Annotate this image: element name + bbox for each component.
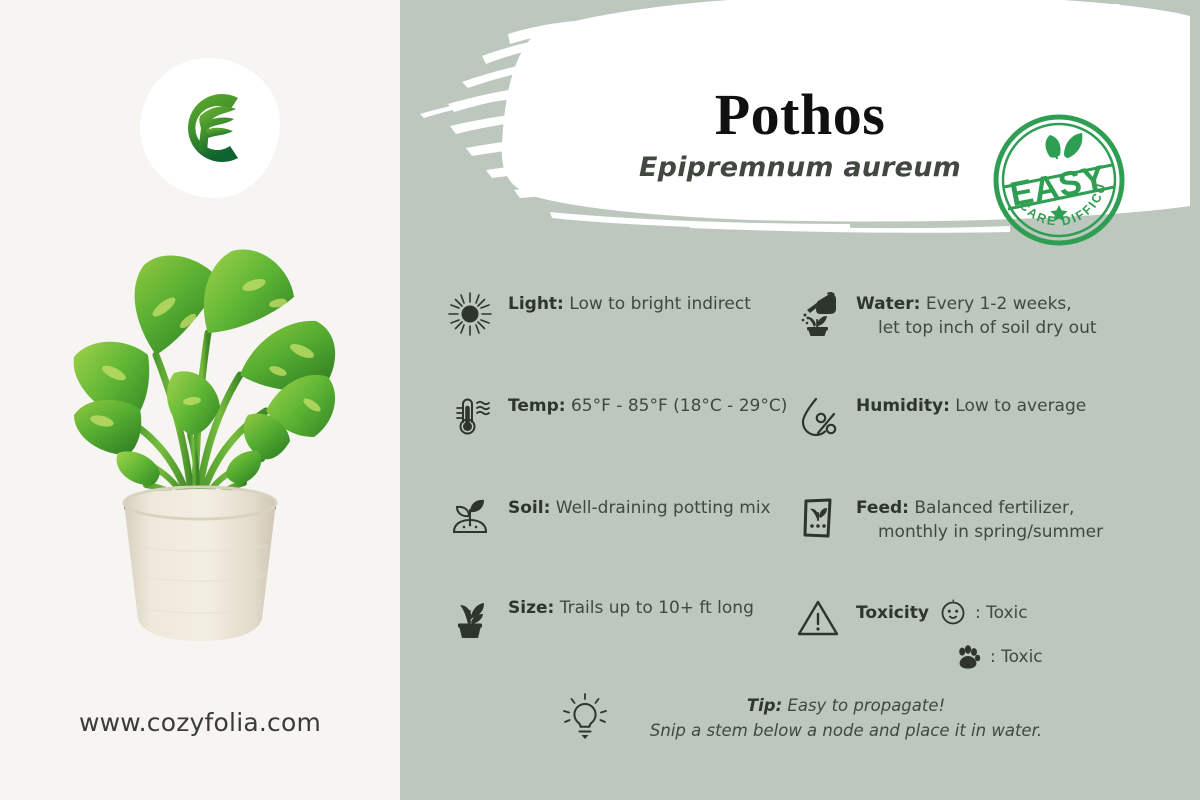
care-value-water-line2: let top inch of soil dry out: [856, 316, 1097, 340]
care-value-soil: Well-draining potting mix: [556, 498, 771, 518]
care-value-humidity: Low to average: [955, 396, 1086, 416]
tip-section: Tip: Easy to propagate! Snip a stem belo…: [400, 692, 1200, 746]
toxicity-baby-line: Toxicity : Toxic: [856, 594, 1043, 632]
care-item-humidity: Humidity: Low to average: [790, 388, 1086, 444]
thermometer-icon: [442, 388, 498, 444]
page-title: Pothos: [550, 85, 1050, 145]
care-item-size: Size: Trails up to 10+ ft long: [442, 590, 754, 646]
cozyfolia-leaf-c-logo-icon: [154, 72, 266, 184]
care-item-feed: Feed: Balanced fertilizer, monthly in sp…: [790, 490, 1103, 546]
lightbulb-icon: [558, 692, 612, 746]
care-value-light: Low to bright indirect: [569, 294, 751, 314]
plant-care-infographic: www.cozyfolia.com: [0, 0, 1200, 800]
humidity-droplet-icon: [790, 388, 846, 444]
care-item-light-text: Light: Low to bright indirect: [508, 286, 751, 316]
watering-can-icon: [790, 286, 846, 342]
potted-plant-icon: [442, 590, 498, 646]
tip-text: Tip: Easy to propagate! Snip a stem belo…: [650, 694, 1042, 744]
care-label-water: Water:: [856, 294, 920, 314]
care-details-grid: Light: Low to bright indirect: [400, 278, 1200, 698]
care-item-humidity-text: Humidity: Low to average: [856, 388, 1086, 418]
paw-print-icon: [953, 642, 983, 672]
care-item-temp: Temp: 65°F - 85°F (18°C - 29°C): [442, 388, 787, 444]
sun-icon: [442, 286, 498, 342]
brand-logo: [140, 58, 280, 198]
care-label-size: Size:: [508, 598, 554, 618]
website-url[interactable]: www.cozyfolia.com: [0, 708, 400, 737]
baby-face-icon: [938, 598, 968, 628]
pothos-plant-image: [40, 215, 360, 645]
care-item-soil-text: Soil: Well-draining potting mix: [508, 490, 771, 520]
tip-headline: Easy to propagate!: [787, 696, 945, 715]
easy-stamp-icon: EASY CARE DIFFICULTY: [992, 113, 1126, 247]
pothos-potted-plant-icon: [40, 215, 360, 645]
care-item-toxicity: Toxicity : Toxic: [790, 590, 1043, 676]
right-panel: Pothos Epipremnum aureum EASY: [400, 0, 1200, 800]
fertilizer-bag-icon: [790, 490, 846, 546]
care-label-temp: Temp:: [508, 396, 566, 416]
care-item-feed-text: Feed: Balanced fertilizer, monthly in sp…: [856, 490, 1103, 544]
care-value-size: Trails up to 10+ ft long: [560, 598, 754, 618]
tip-label: Tip:: [747, 696, 782, 715]
care-item-soil: Soil: Well-draining potting mix: [442, 490, 771, 546]
seedling-soil-icon: [442, 490, 498, 546]
title-block: Pothos Epipremnum aureum: [550, 85, 1050, 183]
toxicity-label: Toxicity: [856, 603, 929, 623]
care-difficulty-stamp: EASY CARE DIFFICULTY: [992, 113, 1126, 247]
toxicity-pet-line: : Toxic: [856, 638, 1043, 676]
care-label-light: Light:: [508, 294, 564, 314]
care-item-water-text: Water: Every 1-2 weeks, let top inch of …: [856, 286, 1097, 340]
toxicity-body: Toxicity : Toxic: [856, 590, 1043, 676]
tip-detail: Snip a stem below a node and place it in…: [650, 719, 1042, 744]
care-label-soil: Soil:: [508, 498, 550, 518]
care-value-feed: Balanced fertilizer,: [914, 498, 1074, 518]
care-item-size-text: Size: Trails up to 10+ ft long: [508, 590, 754, 620]
toxicity-pet-value: : Toxic: [990, 647, 1043, 667]
care-value-feed-line2: monthly in spring/summer: [856, 520, 1103, 544]
warning-triangle-icon: [790, 590, 846, 646]
care-item-temp-text: Temp: 65°F - 85°F (18°C - 29°C): [508, 388, 787, 418]
care-item-water: Water: Every 1-2 weeks, let top inch of …: [790, 286, 1097, 342]
care-item-light: Light: Low to bright indirect: [442, 286, 751, 342]
botanical-name: Epipremnum aureum: [550, 152, 1050, 183]
care-value-water: Every 1-2 weeks,: [926, 294, 1072, 314]
care-value-temp: 65°F - 85°F (18°C - 29°C): [571, 396, 787, 416]
care-label-feed: Feed:: [856, 498, 909, 518]
left-panel: www.cozyfolia.com: [0, 0, 400, 800]
toxicity-baby-value: : Toxic: [975, 603, 1028, 623]
care-label-humidity: Humidity:: [856, 396, 950, 416]
